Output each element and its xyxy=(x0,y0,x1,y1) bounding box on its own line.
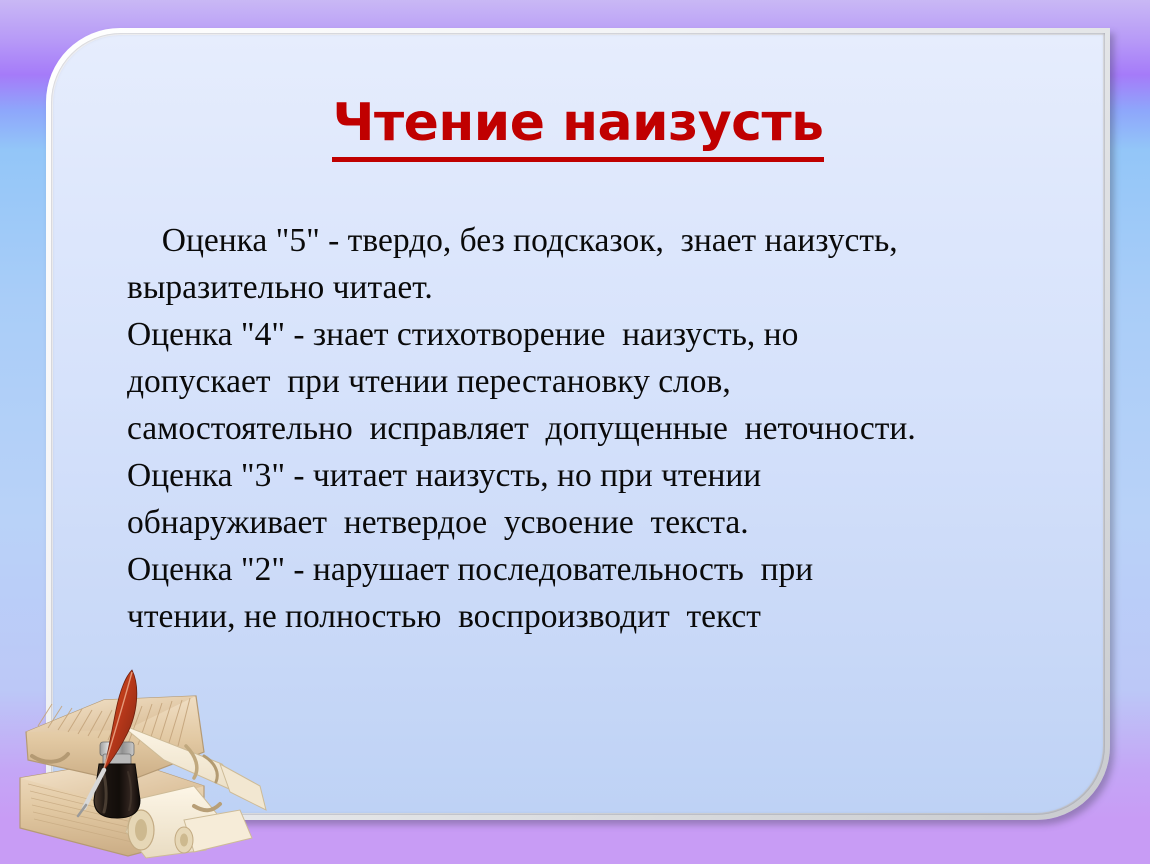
criteria-line: Оценка "3" - читает наизусть, но при чте… xyxy=(127,452,1057,499)
page-title: Чтение наизусть xyxy=(53,97,1103,149)
criteria-line: чтении, не полностью воспроизводит текст xyxy=(127,593,1057,640)
grading-criteria-text: Оценка "5" - твердо, без подсказок, знае… xyxy=(127,217,1057,640)
slide-canvas: Чтение наизусть Оценка "5" - твердо, без… xyxy=(0,0,1150,864)
criteria-line: Оценка "4" - знает стихотворение наизуст… xyxy=(127,311,1057,358)
page-title-text: Чтение наизусть xyxy=(332,93,823,162)
criteria-line: выразительно читает. xyxy=(127,264,1057,311)
criteria-line: самостоятельно исправляет допущенные нет… xyxy=(127,405,1057,452)
clipart-svg xyxy=(8,660,308,864)
criteria-line: допускает при чтении перестановку слов, xyxy=(127,358,1057,405)
criteria-line: Оценка "5" - твердо, без подсказок, знае… xyxy=(127,217,1057,264)
criteria-line: обнаруживает нетвердое усвоение текста. xyxy=(127,499,1057,546)
books-quill-inkwell-icon xyxy=(8,660,308,864)
criteria-line: Оценка "2" - нарушает последовательность… xyxy=(127,546,1057,593)
